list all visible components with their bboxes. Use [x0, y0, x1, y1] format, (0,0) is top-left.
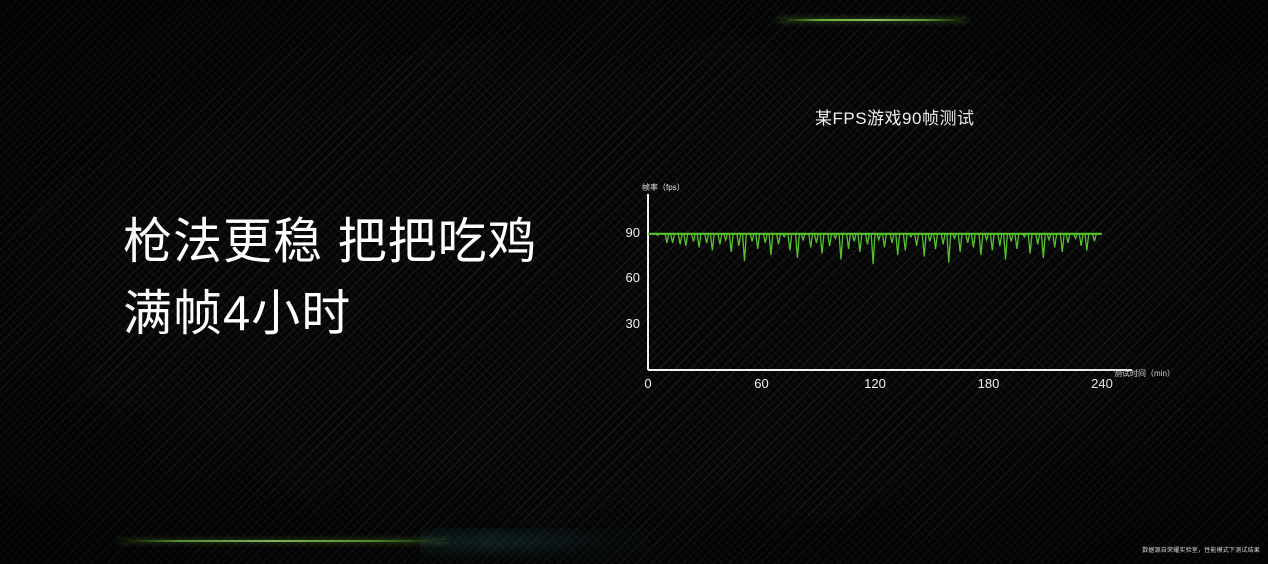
footnote-disclaimer: 数据源自荣耀实验室，性能模式下测试结果 [1142, 545, 1260, 554]
headline: 枪法更稳 把把吃鸡 满帧4小时 [123, 206, 538, 350]
x-axis-tick-180: 180 [969, 376, 1009, 391]
x-axis-tick-60: 60 [742, 376, 782, 391]
y-axis-tick-30: 30 [616, 316, 640, 331]
fps-series-line [648, 234, 1102, 264]
x-axis-tick-120: 120 [855, 376, 895, 391]
y-axis-tick-90: 90 [616, 225, 640, 240]
slide-canvas: 枪法更稳 把把吃鸡 满帧4小时 某FPS游戏90帧测试 帧率（fps） 测试时间… [0, 0, 1268, 564]
x-axis-tick-0: 0 [628, 376, 668, 391]
headline-line-1: 枪法更稳 把把吃鸡 [123, 206, 538, 278]
y-axis-tick-60: 60 [616, 270, 640, 285]
headline-line-2: 满帧4小时 [123, 278, 538, 350]
fps-line-plot [620, 96, 1200, 396]
fps-chart-panel: 某FPS游戏90帧测试 帧率（fps） 测试时间（min） 3060900601… [620, 96, 1200, 396]
accent-line-bottom [118, 540, 448, 542]
accent-glow [420, 528, 650, 562]
accent-line-top [778, 19, 968, 21]
x-axis-tick-240: 240 [1082, 376, 1122, 391]
